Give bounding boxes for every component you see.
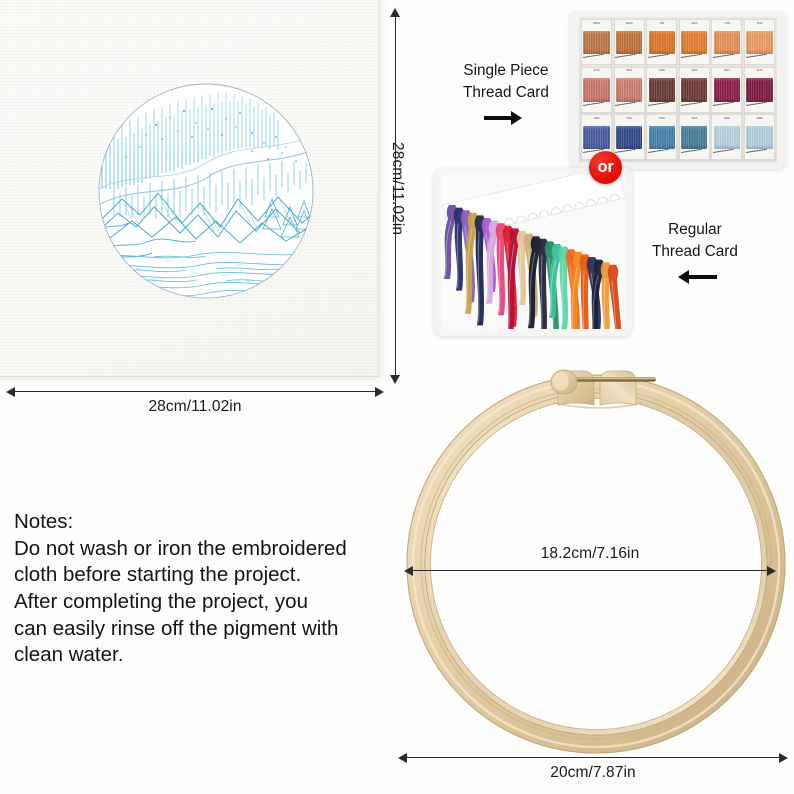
thread-bobbin: 4050 <box>646 67 677 113</box>
arrow-up-head-icon <box>390 8 400 17</box>
thread-bobbin: 7105 <box>711 19 742 65</box>
thread-tail <box>583 54 603 58</box>
arrow-left-icon <box>652 269 738 283</box>
arrow-right-head-icon <box>375 387 384 397</box>
thread-bobbin: 7912 <box>614 114 645 160</box>
thread-color-code: 7102 <box>757 21 763 25</box>
thread-color-code: 4276 <box>757 68 763 72</box>
thread-color-code: 3919 <box>691 68 697 72</box>
thread-floss-wrap <box>681 78 707 102</box>
fabric-width-arrow-line <box>6 386 384 397</box>
thread-tail <box>681 54 701 58</box>
thread-floss-wrap <box>746 78 772 102</box>
floss-skein-highlight <box>457 224 458 288</box>
thread-color-code: 4120 <box>691 21 697 25</box>
thread-floss-wrap <box>681 31 707 55</box>
floss-skein-highlight <box>604 278 605 329</box>
thread-tail <box>615 102 635 106</box>
thread-floss-wrap <box>616 31 642 55</box>
thread-color-code: 4002 <box>724 116 730 120</box>
fabric-height-label: 28cm/11.02in <box>388 142 406 235</box>
thread-color-code: M043 <box>626 21 633 25</box>
single-piece-thread-card-photo: M013M04372941207105710237123521405039193… <box>570 11 786 169</box>
hoop-inner-diameter-dimension: 18.2cm/7.16in <box>404 545 776 576</box>
hoop-inner-arrow-line <box>404 565 776 576</box>
arrow-left-head-icon <box>398 753 407 763</box>
arrow-right-head-icon <box>779 753 788 763</box>
floss-skein-highlight <box>478 231 479 322</box>
thread-tail <box>746 102 766 106</box>
thread-floss-wrap <box>714 126 740 150</box>
regular-thread-card-label-line2: Thread Card <box>652 243 738 260</box>
single-piece-thread-card-callout: Single Piece Thread Card <box>463 60 549 124</box>
product-infographic: 28cm/11.02in 28cm/11.02in Single Piece T… <box>0 0 794 794</box>
notes-line: cloth before starting the project. <box>14 562 406 589</box>
floss-skein-highlight <box>520 247 521 302</box>
notes-line: After completing the project, you <box>14 589 406 616</box>
thread-color-code: 5136 <box>691 116 697 120</box>
regular-thread-card-photo <box>434 168 632 336</box>
thread-color-code: 3712 <box>594 68 600 72</box>
thread-tail <box>713 149 733 153</box>
regular-thread-card-callout: Regular Thread Card <box>652 219 738 283</box>
floss-skein-highlight <box>562 263 563 327</box>
notes-line: Do not wash or iron the embroidered <box>14 536 406 563</box>
fabric-width-label: 28cm/11.02in <box>148 398 241 416</box>
printed-pattern-circle <box>96 81 316 301</box>
thread-color-code: 7105 <box>724 21 730 25</box>
notes-heading: Notes: <box>14 509 406 536</box>
regular-thread-card-label-line1: Regular <box>668 221 722 238</box>
thread-floss-wrap <box>714 78 740 102</box>
thread-floss-wrap <box>649 126 675 150</box>
arrow-right-head-icon <box>767 566 776 576</box>
thread-color-code: 4050 <box>659 68 665 72</box>
thread-tail <box>615 54 635 58</box>
thread-bobbin: 3521 <box>614 67 645 113</box>
fabric-width-dimension: 28cm/11.02in <box>6 386 384 416</box>
thread-color-code: 7912 <box>626 116 632 120</box>
thread-tail <box>648 54 668 58</box>
thread-floss-wrap <box>714 31 740 55</box>
thread-floss-wrap <box>746 126 772 150</box>
thread-tail <box>746 149 766 153</box>
thread-bobbin: 729 <box>646 19 677 65</box>
single-thread-card-label-line1: Single Piece <box>463 62 548 79</box>
thread-bobbin: 3899 <box>744 114 775 160</box>
or-badge: or <box>589 151 622 184</box>
hoop-outer-arrow-line <box>398 752 788 763</box>
thread-bobbin: 4120 <box>679 19 710 65</box>
thread-floss-wrap <box>583 78 609 102</box>
thread-bobbin: 5134 <box>646 114 677 160</box>
thread-bobbin: 5136 <box>679 114 710 160</box>
thread-tail <box>746 54 766 58</box>
thread-bobbin: 4276 <box>744 67 775 113</box>
thread-tail <box>713 102 733 106</box>
regular-thread-card-image <box>441 175 625 329</box>
hoop-outer-diameter-label: 20cm/7.87in <box>550 764 636 782</box>
thread-tail <box>648 102 668 106</box>
thread-color-code: 729 <box>660 21 664 25</box>
thread-color-code: 5134 <box>659 116 665 120</box>
thread-tail <box>648 149 668 153</box>
thread-tail <box>681 102 701 106</box>
arrow-right-icon <box>463 110 549 124</box>
thread-color-code: 7022 <box>594 116 600 120</box>
notes-line: clean water. <box>14 642 406 669</box>
thread-tail <box>583 102 603 106</box>
thread-color-code: 3513 <box>724 68 730 72</box>
thread-floss-wrap <box>746 31 772 55</box>
single-thread-card-label-line2: Thread Card <box>463 84 549 101</box>
thread-floss-wrap <box>649 78 675 102</box>
thread-floss-wrap <box>649 31 675 55</box>
arrow-left-head-icon <box>404 566 413 576</box>
notes-block: Notes: Do not wash or iron the embroider… <box>14 509 406 669</box>
hoop-outer-diameter-dimension: 20cm/7.87in <box>398 752 788 782</box>
thread-floss-wrap <box>583 31 609 55</box>
thread-bobbin: 7102 <box>744 19 775 65</box>
thread-color-code: 3521 <box>626 68 632 72</box>
thread-floss-wrap <box>616 126 642 150</box>
thread-bobbin: 3513 <box>711 67 742 113</box>
notes-line: can easily rinse off the pigment with <box>14 616 406 643</box>
thread-floss-wrap <box>681 126 707 150</box>
thread-tail <box>713 54 733 58</box>
thread-bobbin: M043 <box>614 19 645 65</box>
thread-bobbin-grid: M013M04372941207105710237123521405039193… <box>579 17 777 162</box>
thread-bobbin: 3919 <box>679 67 710 113</box>
thread-color-code: M013 <box>593 21 600 25</box>
thread-floss-wrap <box>616 78 642 102</box>
floss-skein-highlight <box>541 255 542 329</box>
floss-skein-highlight <box>583 270 584 329</box>
floss-skein-highlight <box>499 239 500 312</box>
thread-tail <box>681 149 701 153</box>
thread-bobbin: M013 <box>581 19 612 65</box>
hoop-inner-diameter-label: 18.2cm/7.16in <box>541 545 640 563</box>
thread-tail <box>615 149 635 153</box>
arrow-left-head-icon <box>6 387 15 397</box>
fabric-height-dimension: 28cm/11.02in <box>388 8 402 384</box>
thread-bobbin: 3712 <box>581 67 612 113</box>
thread-bobbin: 4002 <box>711 114 742 160</box>
thread-color-code: 3899 <box>757 116 763 120</box>
thread-floss-wrap <box>583 126 609 150</box>
